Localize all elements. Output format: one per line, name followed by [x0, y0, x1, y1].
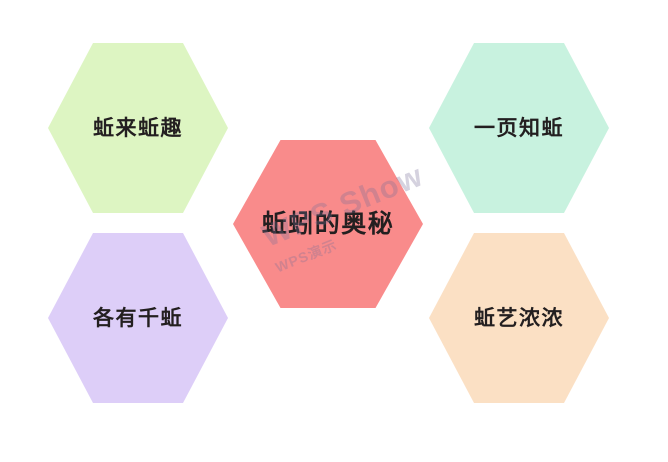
hexagon-node-bottom-right[interactable]: 蚯艺浓浓 — [429, 233, 609, 403]
hexagon-label-bottom-left: 各有千蚯 — [93, 308, 183, 329]
hexagon-node-top-right[interactable]: 一页知蚯 — [429, 43, 609, 213]
hexagon-node-center[interactable]: 蚯蚓的奥秘 — [233, 140, 423, 308]
hexagon-label-top-right: 一页知蚯 — [474, 118, 564, 139]
hexagon-label-bottom-right: 蚯艺浓浓 — [474, 308, 564, 329]
hexagon-node-top-left[interactable]: 蚯来蚯趣 — [48, 43, 228, 213]
diagram-canvas: 蚯来蚯趣 各有千蚯 一页知蚯 蚯艺浓浓 蚯蚓的奥秘 WPS Show WPS演示 — [0, 0, 668, 462]
hexagon-label-top-left: 蚯来蚯趣 — [93, 118, 183, 139]
hexagon-node-bottom-left[interactable]: 各有千蚯 — [48, 233, 228, 403]
hexagon-label-center: 蚯蚓的奥秘 — [262, 212, 395, 237]
